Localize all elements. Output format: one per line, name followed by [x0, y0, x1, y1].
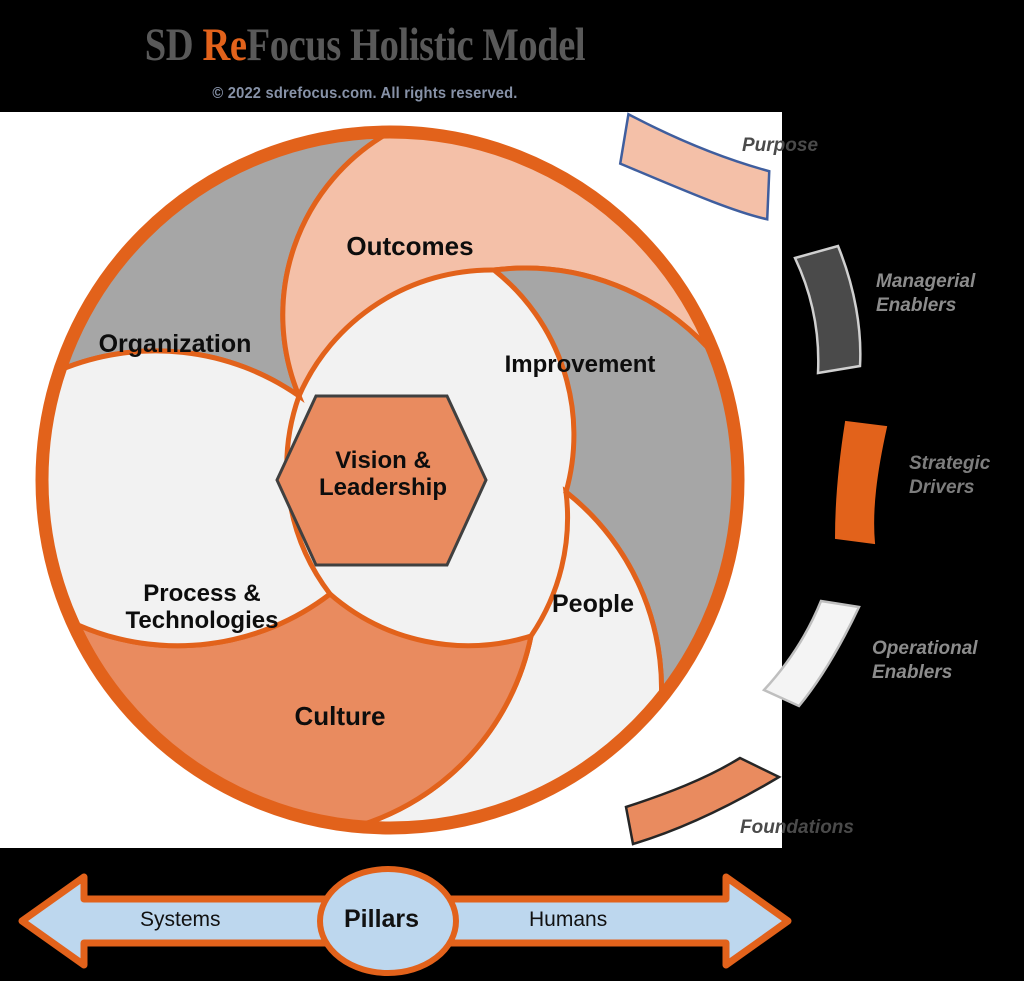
diagram-root: SD ReFocus Holistic Model © 2022 sdrefoc…	[0, 0, 1024, 981]
legend-label-managerial-enablers: Managerial Enablers	[876, 270, 975, 318]
legend-label-purpose: Purpose	[742, 134, 818, 158]
legend-swatch-purpose[interactable]	[616, 114, 777, 219]
pillars-label-systems: Systems	[140, 908, 221, 932]
pillars-label-humans: Humans	[529, 908, 607, 932]
center-hexagon[interactable]	[277, 396, 486, 565]
diagram-canvas	[0, 0, 1024, 981]
legend-swatch-managerial[interactable]	[795, 246, 860, 373]
pillars-label-center: Pillars	[344, 905, 419, 934]
legend-swatch-strategic[interactable]	[836, 422, 886, 543]
legend-label-operational-enablers: Operational Enablers	[872, 637, 978, 685]
legend-label-strategic-drivers: Strategic Drivers	[909, 452, 990, 500]
legend-label-foundations: Foundations	[740, 816, 854, 840]
legend-swatch-operational[interactable]	[764, 601, 859, 706]
